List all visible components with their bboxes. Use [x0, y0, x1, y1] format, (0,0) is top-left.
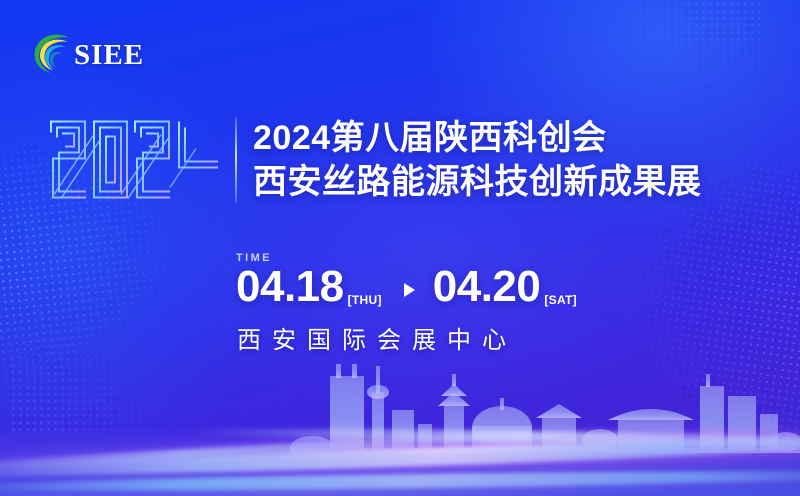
end-day-of-week: [SAT]: [544, 294, 577, 306]
play-arrow-icon: [404, 283, 415, 297]
date-range-row: 04.18 [THU] 04.20 [SAT]: [236, 265, 577, 309]
event-date-block: TIME 04.18 [THU] 04.20 [SAT]: [236, 252, 577, 309]
logo-text: SIEE: [74, 41, 144, 70]
outline-2024-numeral-icon: [46, 112, 221, 208]
headline-block: 2024第八届陕西科创会 西安丝路能源科技创新成果展: [46, 112, 702, 208]
siee-swoosh-logo-icon: [24, 26, 76, 78]
event-banner: SIEE: [0, 0, 800, 496]
headline-divider: [235, 117, 237, 203]
start-date: 04.18: [236, 265, 344, 309]
xian-city-skyline-icon: [0, 348, 800, 458]
siee-logo: SIEE: [24, 26, 144, 78]
title-group: 2024第八届陕西科创会 西安丝路能源科技创新成果展: [253, 118, 702, 202]
title-line-1: 2024第八届陕西科创会: [253, 118, 702, 158]
start-day-of-week: [THU]: [348, 294, 382, 306]
end-date: 04.20: [433, 265, 541, 309]
title-line-2: 西安丝路能源科技创新成果展: [253, 162, 702, 202]
